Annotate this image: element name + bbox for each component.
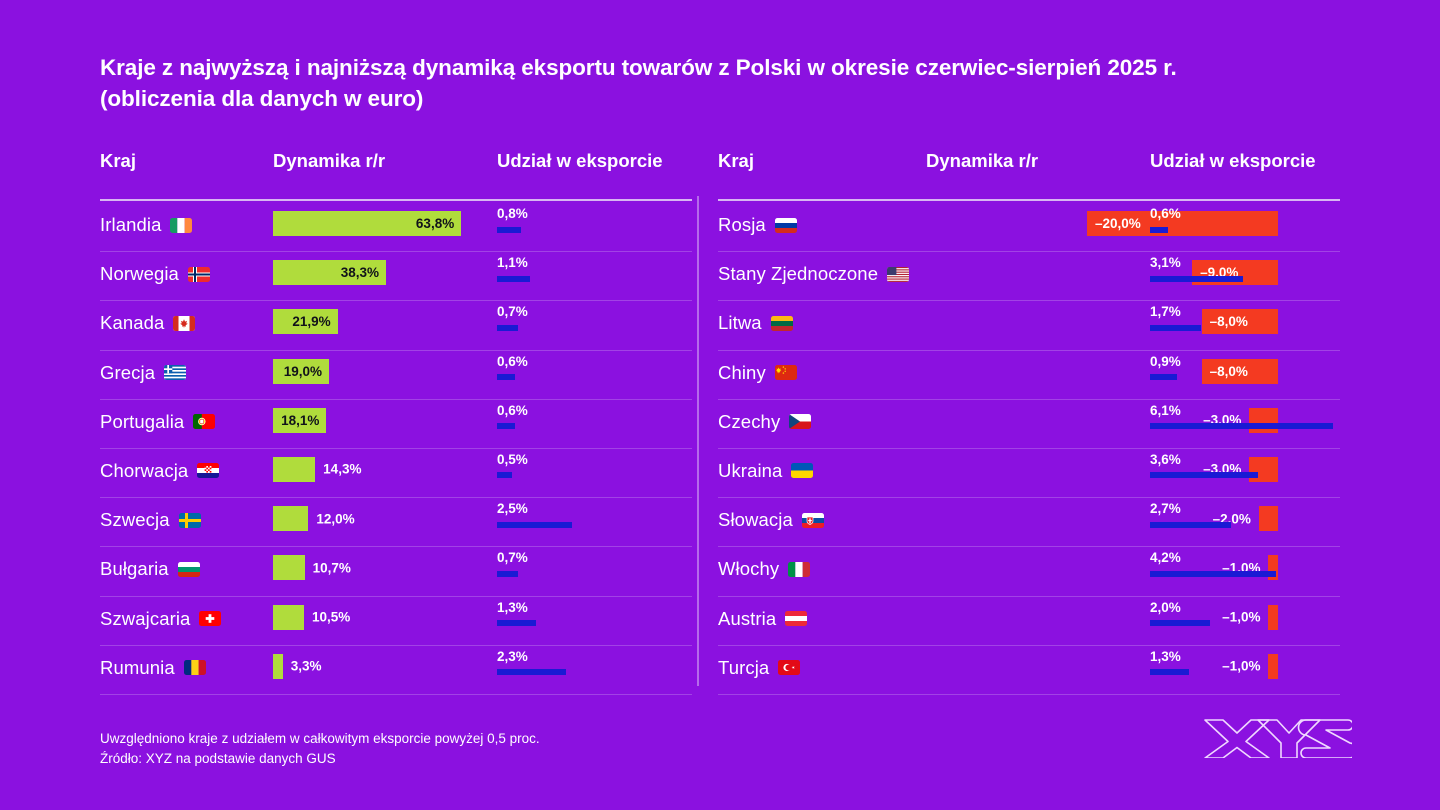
share-bar — [497, 620, 536, 626]
dynamics-bar-positive: 38,3% — [273, 260, 386, 285]
share-value: 2,7% — [1150, 502, 1340, 516]
dynamics-value: 3,3% — [291, 659, 322, 674]
country-cell: Portugalia — [100, 411, 215, 433]
country-name: Czechy — [718, 411, 780, 433]
country-cell: Szwecja — [100, 509, 201, 531]
table-row: Turcja–1,0%1,3% — [718, 646, 1340, 695]
country-name: Rosja — [718, 214, 766, 236]
dynamics-value: 21,9% — [292, 314, 337, 329]
table-rows: Irlandia63,8%0,8%Norwegia38,3%1,1%Kanada… — [100, 203, 692, 695]
flag-icon-cn — [775, 365, 797, 380]
flag-icon-ch — [199, 611, 221, 626]
country-cell: Szwajcaria — [100, 608, 221, 630]
xyz-logo — [1202, 712, 1352, 758]
dynamics-value: 14,3% — [323, 462, 361, 477]
share-cell: 0,7% — [497, 305, 692, 331]
flag-icon-it — [788, 562, 810, 577]
table-lowest-growth: Kraj Dynamika r/r Udział w eksporcie Ros… — [718, 150, 1340, 695]
table-row: Bułgaria10,7%0,7% — [100, 547, 692, 596]
country-name: Litwa — [718, 312, 762, 334]
country-name: Szwajcaria — [100, 608, 190, 630]
page-title: Kraje z najwyższą i najniższą dynamiką e… — [100, 52, 1360, 114]
country-cell: Czechy — [718, 411, 811, 433]
country-cell: Chiny — [718, 362, 797, 384]
table-row: Chorwacja14,3%0,5% — [100, 449, 692, 498]
share-bar — [1150, 620, 1210, 626]
share-value: 0,7% — [497, 551, 692, 565]
table-row: Ukraina–3,0%3,6% — [718, 449, 1340, 498]
share-value: 1,3% — [497, 601, 692, 615]
country-name: Kanada — [100, 312, 164, 334]
column-header-country: Kraj — [100, 150, 136, 172]
country-name: Chiny — [718, 362, 766, 384]
column-header-share: Udział w eksporcie — [1150, 150, 1316, 172]
country-name: Bułgaria — [100, 558, 169, 580]
table-row: Włochy–1,0%4,2% — [718, 547, 1340, 596]
country-cell: Norwegia — [100, 263, 210, 285]
country-cell: Irlandia — [100, 214, 192, 236]
flag-icon-ro — [184, 660, 206, 675]
flag-icon-lt — [771, 316, 793, 331]
flag-icon-gr — [164, 365, 186, 380]
share-bar — [497, 472, 512, 478]
flag-icon-ua — [791, 463, 813, 478]
column-header-share: Udział w eksporcie — [497, 150, 663, 172]
share-value: 1,7% — [1150, 305, 1340, 319]
share-cell: 0,5% — [497, 453, 692, 479]
table-row: Czechy–3,0%6,1% — [718, 400, 1340, 449]
share-bar — [1150, 669, 1189, 675]
flag-icon-ru — [775, 218, 797, 233]
country-cell: Grecja — [100, 362, 186, 384]
flag-icon-at — [785, 611, 807, 626]
share-cell: 1,7% — [1150, 305, 1340, 331]
share-cell: 2,5% — [497, 502, 692, 528]
flag-icon-ca — [173, 316, 195, 331]
share-cell: 0,6% — [1150, 207, 1340, 233]
share-value: 0,9% — [1150, 355, 1340, 369]
country-name: Rumunia — [100, 657, 175, 679]
country-cell: Turcja — [718, 657, 800, 679]
share-cell: 3,6% — [1150, 453, 1340, 479]
table-row: Portugalia18,1%0,6% — [100, 400, 692, 449]
country-cell: Austria — [718, 608, 807, 630]
share-cell: 3,1% — [1150, 256, 1340, 282]
table-row: Litwa–8,0%1,7% — [718, 301, 1340, 350]
share-bar — [497, 325, 518, 331]
dynamics-bar-positive: 10,7% — [273, 555, 305, 580]
table-row: Szwecja12,0%2,5% — [100, 498, 692, 547]
share-cell: 6,1% — [1150, 404, 1340, 430]
country-name: Portugalia — [100, 411, 184, 433]
column-headers: Kraj Dynamika r/r Udział w eksporcie — [718, 150, 1340, 200]
share-value: 0,5% — [497, 453, 692, 467]
country-name: Norwegia — [100, 263, 179, 285]
country-cell: Słowacja — [718, 509, 824, 531]
country-cell: Chorwacja — [100, 460, 219, 482]
column-header-country: Kraj — [718, 150, 754, 172]
table-row: Rumunia3,3%2,3% — [100, 646, 692, 695]
country-cell: Kanada — [100, 312, 195, 334]
share-bar — [497, 276, 530, 282]
country-name: Włochy — [718, 558, 779, 580]
table-row: Szwajcaria10,5%1,3% — [100, 597, 692, 646]
share-bar — [1150, 472, 1258, 478]
dynamics-bar-positive: 14,3% — [273, 457, 315, 482]
dynamics-value: 38,3% — [341, 265, 386, 280]
share-value: 3,6% — [1150, 453, 1340, 467]
country-cell: Rumunia — [100, 657, 206, 679]
country-name: Słowacja — [718, 509, 793, 531]
share-cell: 2,0% — [1150, 601, 1340, 627]
country-name: Grecja — [100, 362, 155, 384]
dynamics-value: 19,0% — [284, 364, 329, 379]
share-value: 1,1% — [497, 256, 692, 270]
header-rule — [718, 199, 1340, 201]
flag-icon-ie — [170, 218, 192, 233]
column-header-dynamics: Dynamika r/r — [273, 150, 385, 172]
table-row: Austria–1,0%2,0% — [718, 597, 1340, 646]
dynamics-bar-positive: 18,1% — [273, 408, 326, 433]
table-row: Rosja–20,0%0,6% — [718, 203, 1340, 252]
country-cell: Bułgaria — [100, 558, 200, 580]
table-row: Chiny–8,0%0,9% — [718, 351, 1340, 400]
share-cell: 2,7% — [1150, 502, 1340, 528]
share-cell: 0,6% — [497, 404, 692, 430]
flag-icon-hr — [197, 463, 219, 478]
country-name: Stany Zjednoczone — [718, 263, 878, 285]
dynamics-value: 10,7% — [313, 560, 351, 575]
share-bar — [497, 374, 515, 380]
column-header-dynamics: Dynamika r/r — [926, 150, 1038, 172]
share-value: 0,6% — [497, 404, 692, 418]
share-bar — [1150, 227, 1168, 233]
dynamics-value: 10,5% — [312, 610, 350, 625]
country-name: Szwecja — [100, 509, 170, 531]
share-value: 0,7% — [497, 305, 692, 319]
header-rule — [100, 199, 692, 201]
flag-icon-tr — [778, 660, 800, 675]
share-cell: 1,1% — [497, 256, 692, 282]
page-title-line-2: (obliczenia dla danych w euro) — [100, 83, 1360, 114]
share-bar — [1150, 276, 1243, 282]
flag-icon-no — [188, 267, 210, 282]
row-divider — [100, 694, 692, 695]
share-cell: 0,6% — [497, 355, 692, 381]
country-cell: Rosja — [718, 214, 797, 236]
share-value: 6,1% — [1150, 404, 1340, 418]
footer-line-1: Uwzględniono kraje z udziałem w całkowit… — [100, 729, 540, 749]
table-row: Kanada21,9%0,7% — [100, 301, 692, 350]
share-value: 2,3% — [497, 650, 692, 664]
table-row: Grecja19,0%0,6% — [100, 351, 692, 400]
share-cell: 0,7% — [497, 551, 692, 577]
dynamics-value: 18,1% — [281, 413, 326, 428]
share-cell: 0,8% — [497, 207, 692, 233]
country-name: Chorwacja — [100, 460, 188, 482]
dynamics-bar-positive: 12,0% — [273, 506, 308, 531]
country-name: Irlandia — [100, 214, 161, 236]
share-bar — [497, 571, 518, 577]
column-headers: Kraj Dynamika r/r Udział w eksporcie — [100, 150, 692, 200]
flag-icon-sk — [802, 513, 824, 528]
table-rows: Rosja–20,0%0,6%Stany Zjednoczone–9,0%3,1… — [718, 203, 1340, 695]
dynamics-bar-positive: 19,0% — [273, 359, 329, 384]
share-value: 0,6% — [497, 355, 692, 369]
page-title-line-1: Kraje z najwyższą i najniższą dynamiką e… — [100, 52, 1360, 83]
dynamics-bar-positive: 10,5% — [273, 605, 304, 630]
table-row: Irlandia63,8%0,8% — [100, 203, 692, 252]
table-row: Stany Zjednoczone–9,0%3,1% — [718, 252, 1340, 301]
share-bar — [497, 669, 566, 675]
share-value: 0,6% — [1150, 207, 1340, 221]
flag-icon-bg — [178, 562, 200, 577]
dynamics-value: –20,0% — [1087, 216, 1141, 231]
share-bar — [1150, 374, 1177, 380]
country-name: Turcja — [718, 657, 769, 679]
share-cell: 1,3% — [1150, 650, 1340, 676]
country-cell: Ukraina — [718, 460, 813, 482]
share-bar — [1150, 571, 1276, 577]
row-divider — [718, 694, 1340, 695]
share-value: 4,2% — [1150, 551, 1340, 565]
share-cell: 0,9% — [1150, 355, 1340, 381]
share-value: 2,0% — [1150, 601, 1340, 615]
flag-icon-se — [179, 513, 201, 528]
table-row: Norwegia38,3%1,1% — [100, 252, 692, 301]
share-cell: 4,2% — [1150, 551, 1340, 577]
share-bar — [1150, 423, 1333, 429]
footer-note: Uwzględniono kraje z udziałem w całkowit… — [100, 729, 540, 769]
country-name: Ukraina — [718, 460, 782, 482]
dynamics-bar-positive: 63,8% — [273, 211, 461, 236]
share-cell: 1,3% — [497, 601, 692, 627]
footer-line-2: Źródło: XYZ na podstawie danych GUS — [100, 749, 540, 769]
flag-icon-pt — [193, 414, 215, 429]
share-bar — [497, 423, 515, 429]
share-cell: 2,3% — [497, 650, 692, 676]
dynamics-bar-positive: 3,3% — [273, 654, 283, 679]
table-row: Słowacja–2,0%2,7% — [718, 498, 1340, 547]
share-value: 1,3% — [1150, 650, 1340, 664]
share-bar — [1150, 325, 1201, 331]
flag-icon-cz — [789, 414, 811, 429]
share-bar — [497, 522, 572, 528]
share-bar — [497, 227, 521, 233]
country-name: Austria — [718, 608, 776, 630]
dynamics-value: 12,0% — [316, 511, 354, 526]
country-cell: Litwa — [718, 312, 793, 334]
share-value: 2,5% — [497, 502, 692, 516]
table-highest-growth: Kraj Dynamika r/r Udział w eksporcie Irl… — [100, 150, 692, 695]
share-value: 3,1% — [1150, 256, 1340, 270]
share-bar — [1150, 522, 1231, 528]
panel-divider — [697, 196, 699, 686]
country-cell: Włochy — [718, 558, 810, 580]
dynamics-value: 63,8% — [416, 216, 461, 231]
dynamics-bar-positive: 21,9% — [273, 309, 338, 334]
share-value: 0,8% — [497, 207, 692, 221]
